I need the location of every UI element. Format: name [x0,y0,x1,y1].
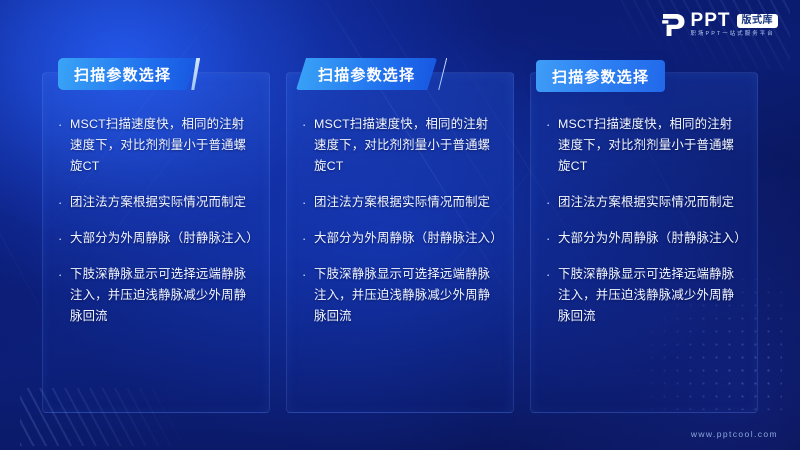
column-heading-text: 扫描参数选择 [296,58,437,90]
column-heading-banner[interactable]: 扫描参数选择 [58,58,200,90]
bullet-marker-icon: · [300,114,314,177]
bullet-text: MSCT扫描速度快，相同的注射速度下，对比剂剂量小于普通螺旋CT [70,114,254,177]
bullet-text: 下肢深静脉显示可选择远端静脉注入，并压迫浅静脉减少外周静脉回流 [70,264,254,327]
list-item: · MSCT扫描速度快，相同的注射速度下，对比剂剂量小于普通螺旋CT [300,114,498,177]
list-item: · 下肢深静脉显示可选择远端静脉注入，并压迫浅静脉减少外周静脉回流 [544,264,742,327]
list-item: · MSCT扫描速度快，相同的注射速度下，对比剂剂量小于普通螺旋CT [56,114,254,177]
bullet-text: MSCT扫描速度快，相同的注射速度下，对比剂剂量小于普通螺旋CT [558,114,742,177]
list-item: · 下肢深静脉显示可选择远端静脉注入，并压迫浅静脉减少外周静脉回流 [300,264,498,327]
bullet-text: MSCT扫描速度快，相同的注射速度下，对比剂剂量小于普通螺旋CT [314,114,498,177]
list-item: · 团注法方案根据实际情况而制定 [544,192,742,213]
list-item: · 团注法方案根据实际情况而制定 [300,192,498,213]
footer-watermark: www.pptcool.com [691,429,778,439]
bullet-text: 团注法方案根据实际情况而制定 [314,192,490,213]
bullet-marker-icon: · [56,114,70,177]
column-heading-text: 扫描参数选择 [536,60,665,92]
bullet-marker-icon: · [300,228,314,249]
list-item: · 大部分为外周静脉（肘静脉注入） [544,228,742,249]
list-item: · 下肢深静脉显示可选择远端静脉注入，并压迫浅静脉减少外周静脉回流 [56,264,254,327]
bullet-text: 大部分为外周静脉（肘静脉注入） [70,228,254,249]
bullet-text: 大部分为外周静脉（肘静脉注入） [314,228,498,249]
bullet-list: · MSCT扫描速度快，相同的注射速度下，对比剂剂量小于普通螺旋CT · 团注法… [530,114,758,342]
ppt-logo-mark-icon [660,12,686,38]
bullet-marker-icon: · [56,192,70,213]
column-heading-banner[interactable]: 扫描参数选择 [296,58,447,90]
list-item: · 团注法方案根据实际情况而制定 [56,192,254,213]
logo-badge: 版式库 [737,14,779,28]
bullet-marker-icon: · [544,192,558,213]
bullet-marker-icon: · [544,114,558,177]
bullet-marker-icon: · [544,228,558,249]
bullet-list: · MSCT扫描速度快，相同的注射速度下，对比剂剂量小于普通螺旋CT · 团注法… [286,114,514,342]
list-item: · MSCT扫描速度快，相同的注射速度下，对比剂剂量小于普通螺旋CT [544,114,742,177]
bullet-list: · MSCT扫描速度快，相同的注射速度下，对比剂剂量小于普通螺旋CT · 团注法… [42,114,270,342]
column-heading-text: 扫描参数选择 [58,58,197,90]
bullet-text: 团注法方案根据实际情况而制定 [558,192,734,213]
content-column-1: 扫描参数选择 · MSCT扫描速度快，相同的注射速度下，对比剂剂量小于普通螺旋C… [42,58,270,413]
logo-wordmark: PPT [691,11,731,30]
banner-tail-accent [438,58,447,90]
bullet-marker-icon: · [300,192,314,213]
content-columns: 扫描参数选择 · MSCT扫描速度快，相同的注射速度下，对比剂剂量小于普通螺旋C… [42,58,758,413]
column-heading-banner[interactable]: 扫描参数选择 [536,60,665,92]
bullet-marker-icon: · [56,264,70,327]
list-item: · 大部分为外周静脉（肘静脉注入） [56,228,254,249]
bullet-marker-icon: · [56,228,70,249]
bullet-text: 大部分为外周静脉（肘静脉注入） [558,228,742,249]
list-item: · 大部分为外周静脉（肘静脉注入） [300,228,498,249]
bullet-marker-icon: · [544,264,558,327]
bullet-marker-icon: · [300,264,314,327]
content-column-2: 扫描参数选择 · MSCT扫描速度快，相同的注射速度下，对比剂剂量小于普通螺旋C… [286,58,514,413]
brand-logo: PPT 版式库 职场PPT一站式服务平台 [660,11,778,38]
bullet-text: 下肢深静脉显示可选择远端静脉注入，并压迫浅静脉减少外周静脉回流 [558,264,742,327]
bullet-text: 下肢深静脉显示可选择远端静脉注入，并压迫浅静脉减少外周静脉回流 [314,264,498,327]
bullet-text: 团注法方案根据实际情况而制定 [70,192,246,213]
content-column-3: 扫描参数选择 · MSCT扫描速度快，相同的注射速度下，对比剂剂量小于普通螺旋C… [530,58,758,413]
logo-tagline: 职场PPT一站式服务平台 [691,32,778,37]
